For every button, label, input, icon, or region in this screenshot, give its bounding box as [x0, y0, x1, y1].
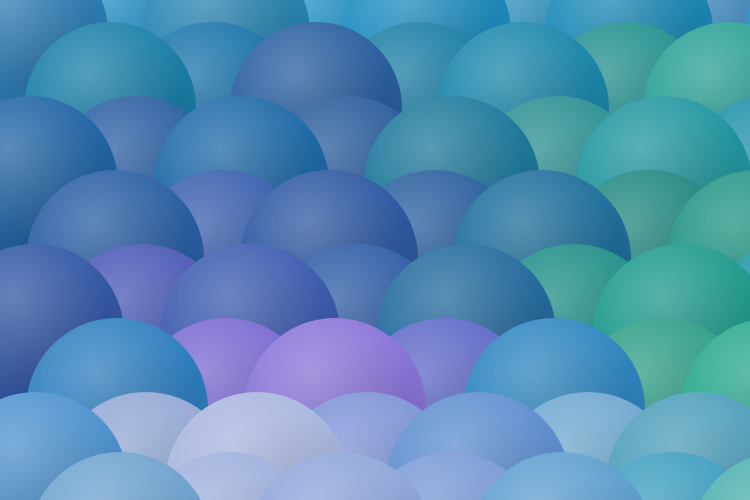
- mermaid-quotes-poster: MERMAID QUOTES That Will Draw You to the…: [0, 0, 750, 500]
- scale-pattern-background: [0, 0, 750, 500]
